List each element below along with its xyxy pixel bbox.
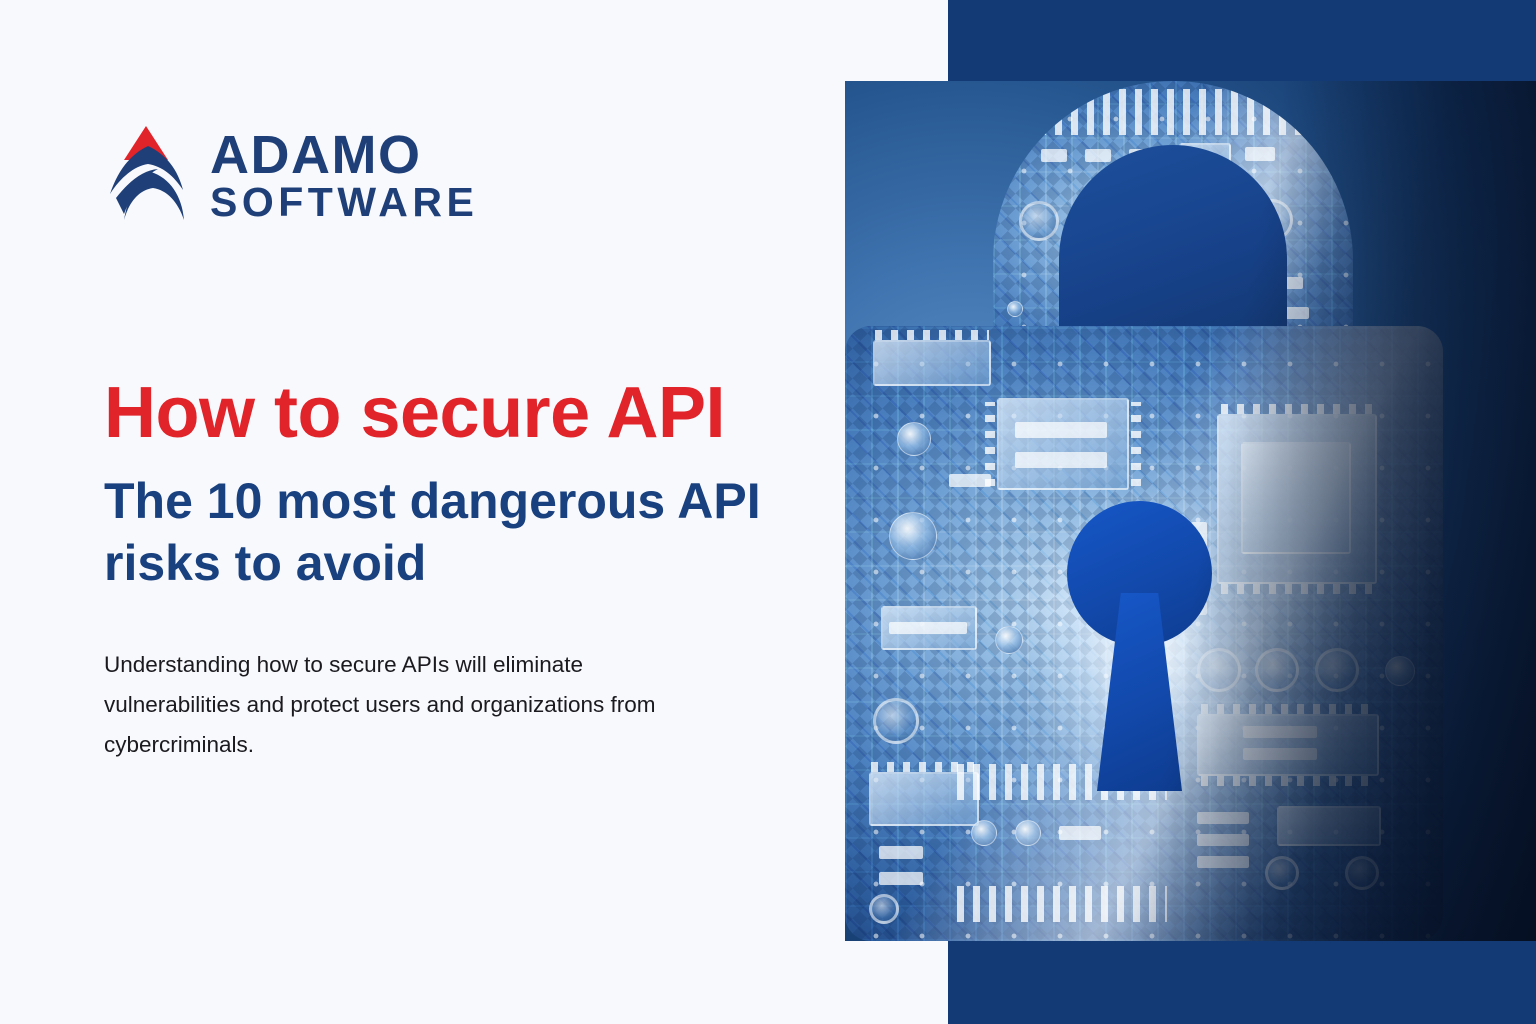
padlock-illustration <box>845 81 1536 941</box>
logo-name-secondary: SOFTWARE <box>210 182 478 222</box>
page-title: How to secure API <box>104 372 725 454</box>
poster-canvas: ADAMO SOFTWARE How to secure API The 10 … <box>0 0 1536 1024</box>
adamo-software-logo[interactable]: ADAMO SOFTWARE <box>104 120 478 232</box>
logo-wordmark: ADAMO SOFTWARE <box>210 129 478 222</box>
page-subtitle: The 10 most dangerous API risks to avoid <box>104 470 824 594</box>
page-description: Understanding how to secure APIs will el… <box>104 645 724 765</box>
adamo-arrow-logomark-icon <box>104 120 188 232</box>
logo-name-primary: ADAMO <box>210 129 478 182</box>
content-column: ADAMO SOFTWARE How to secure API The 10 … <box>0 0 948 1024</box>
padlock-hero-image <box>845 81 1536 941</box>
padlock-keyhole <box>1067 501 1212 791</box>
